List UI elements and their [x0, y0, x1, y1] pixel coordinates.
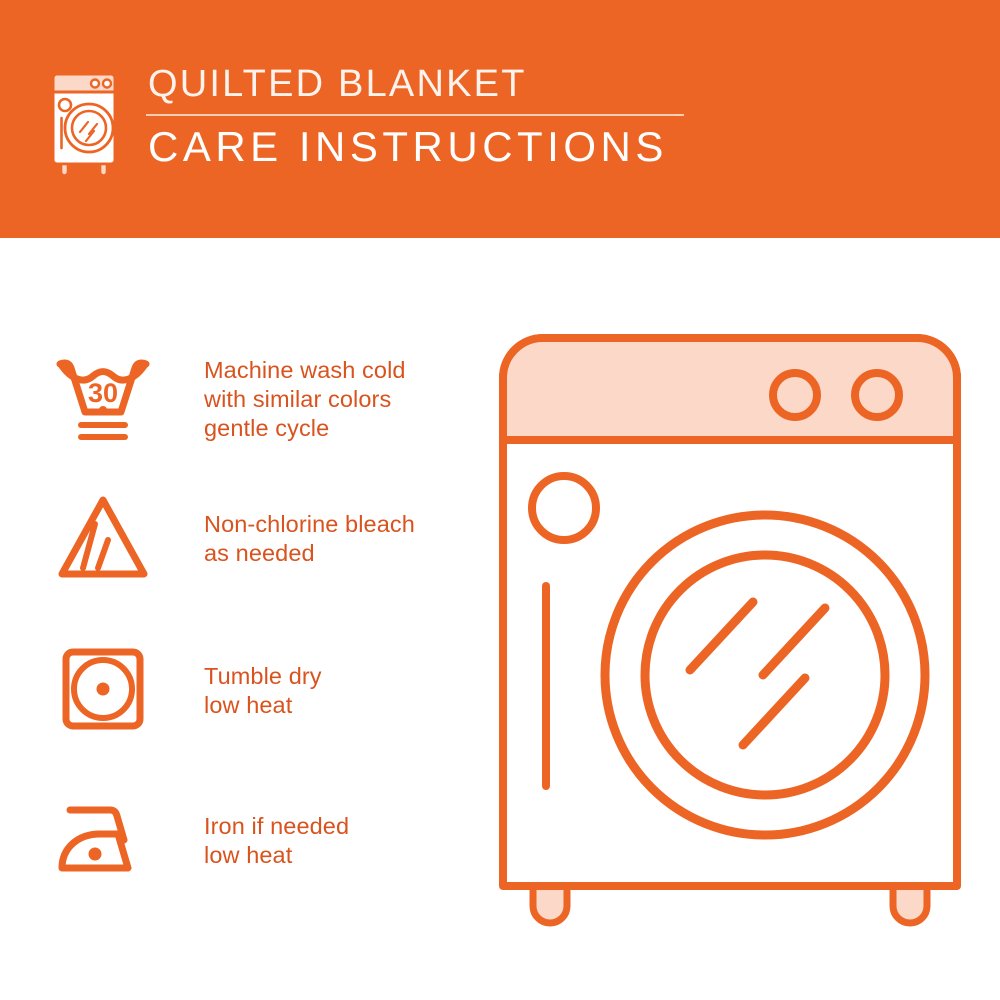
instruction-item-iron: Iron if needed low heat	[48, 790, 349, 890]
detergent-indicator	[532, 476, 596, 540]
wash-tub-30-gentle-icon: 30	[48, 350, 158, 450]
instruction-item-wash: 30 Machine wash cold with similar colors…	[48, 350, 406, 450]
front-load-washing-machine-illustration	[495, 330, 965, 940]
instruction-item-bleach: Non-chlorine bleach as needed	[48, 488, 415, 588]
header-title-group: QUILTED BLANKET CARE INSTRUCTIONS	[144, 62, 684, 171]
title-divider	[146, 114, 684, 116]
wash-temperature-label: 30	[88, 378, 118, 408]
instruction-label-tumble-dry: Tumble dry low heat	[204, 662, 322, 720]
page-title-primary: QUILTED BLANKET	[144, 62, 684, 106]
instruction-label-bleach: Non-chlorine bleach as needed	[204, 510, 415, 568]
control-knob-right	[855, 373, 899, 417]
instruction-label-iron: Iron if needed low heat	[204, 812, 349, 870]
non-chlorine-bleach-triangle-icon	[48, 488, 158, 588]
washing-machine-icon	[48, 66, 126, 178]
instruction-label-wash: Machine wash cold with similar colors ge…	[204, 356, 406, 443]
header-banner: QUILTED BLANKET CARE INSTRUCTIONS	[0, 0, 1000, 238]
iron-low-heat-icon	[48, 790, 158, 890]
instruction-item-tumble-dry: Tumble dry low heat	[48, 638, 322, 738]
tumble-dry-low-heat-icon	[48, 638, 158, 738]
control-knob-left	[773, 373, 817, 417]
page-title-secondary: CARE INSTRUCTIONS	[144, 123, 684, 171]
header-content: QUILTED BLANKET CARE INSTRUCTIONS	[48, 62, 684, 178]
